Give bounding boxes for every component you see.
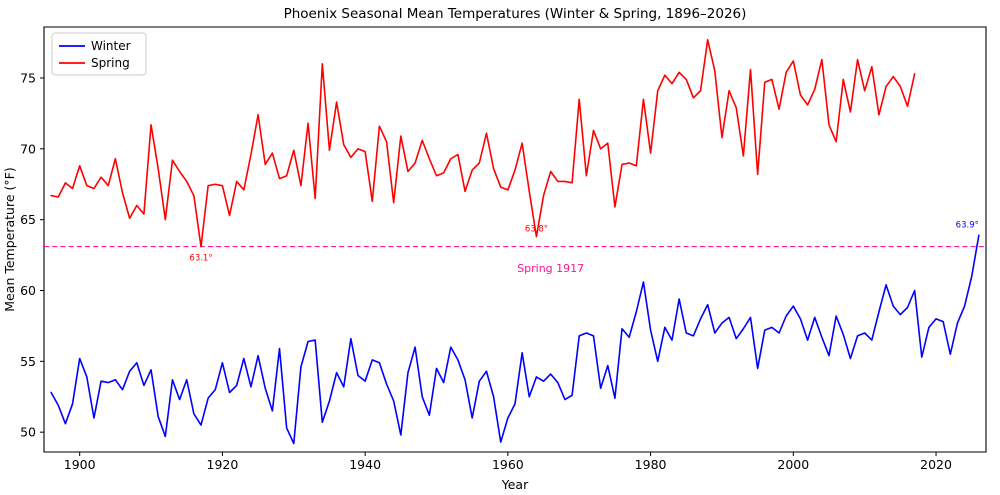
y-axis-title: Mean Temperature (°F) [2, 167, 17, 311]
x-tick-label: 2020 [920, 457, 952, 472]
value-annotation: 63.9° [956, 220, 979, 230]
chart-legend[interactable]: WinterSpring [52, 33, 146, 75]
y-tick-label: 60 [20, 283, 36, 298]
x-tick-label: 1920 [207, 457, 239, 472]
y-tick-label: 65 [20, 212, 36, 227]
x-tick-label: 1960 [492, 457, 524, 472]
x-tick-label: 1940 [349, 457, 381, 472]
value-annotation: 63.1° [189, 254, 212, 264]
chart-page: Phoenix Seasonal Mean Temperatures (Wint… [0, 0, 1000, 495]
chart-title: Phoenix Seasonal Mean Temperatures (Wint… [284, 6, 747, 22]
y-tick-label: 75 [20, 71, 36, 86]
x-tick-label: 2000 [777, 457, 809, 472]
y-tick-label: 50 [20, 425, 36, 440]
legend-label-spring: Spring [91, 56, 130, 70]
event-annotation: Spring 1917 [517, 262, 584, 275]
x-tick-label: 1980 [635, 457, 667, 472]
y-tick-label: 70 [20, 141, 36, 156]
plot-area-background [44, 27, 986, 452]
legend-label-winter: Winter [91, 39, 131, 53]
seasonal-temperature-chart: Phoenix Seasonal Mean Temperatures (Wint… [0, 0, 1000, 495]
x-tick-label: 1900 [64, 457, 96, 472]
value-annotation: 63.8° [525, 225, 548, 235]
x-axis-title: Year [501, 477, 529, 492]
y-tick-label: 55 [20, 354, 36, 369]
